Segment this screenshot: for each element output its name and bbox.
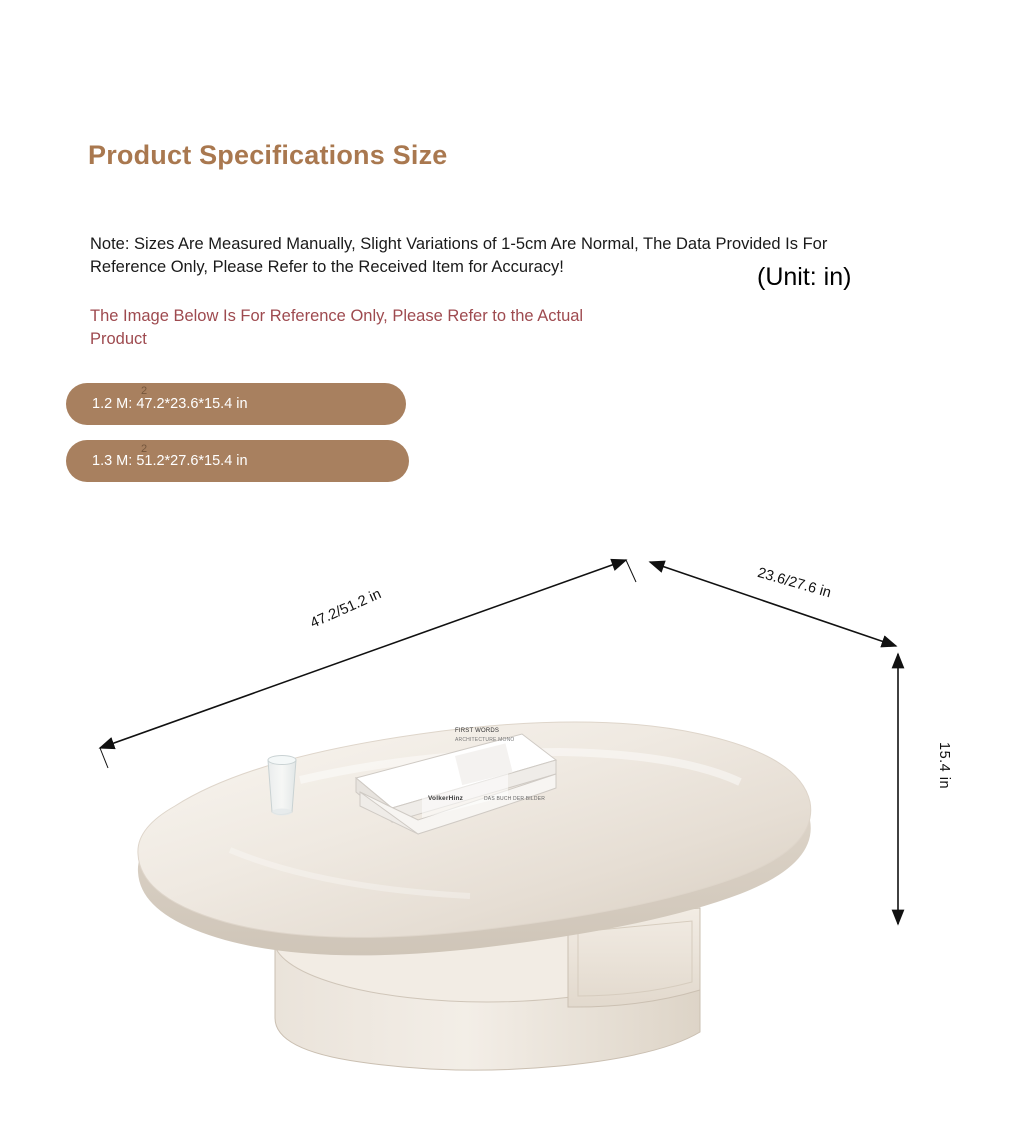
page-title: Product Specifications Size — [88, 140, 448, 171]
glass-cup — [268, 756, 296, 816]
height-dimension-label: 15.4 in — [936, 742, 952, 789]
book-title-line-1: FIRST WORDS — [455, 728, 499, 734]
size-option-2-label: 1.3 M: 51.2*27.6*15.4 in — [92, 453, 248, 469]
book-brand-sub: DAS BUCH DER BILDER — [484, 796, 545, 802]
size-option-1[interactable]: 1.2 M: 47.2*23.6*15.4 in — [66, 383, 406, 425]
product-diagram — [0, 520, 1010, 1120]
unit-label: (Unit: in) — [757, 263, 851, 292]
book-brand: VolkerHinz — [428, 795, 463, 802]
book-title-line-2: ARCHITECTURE MONO — [455, 737, 515, 743]
measurement-note: Note: Sizes Are Measured Manually, Sligh… — [90, 233, 860, 280]
product-spec-page: Product Specifications Size Note: Sizes … — [0, 0, 1010, 1123]
size-option-2[interactable]: 1.3 M: 51.2*27.6*15.4 in — [66, 440, 409, 482]
size-option-2-ghost: 2 — [141, 443, 147, 455]
size-option-1-label: 1.2 M: 47.2*23.6*15.4 in — [92, 396, 248, 412]
size-option-1-ghost: 2 — [141, 385, 147, 397]
reference-disclaimer: The Image Below Is For Reference Only, P… — [90, 305, 635, 351]
